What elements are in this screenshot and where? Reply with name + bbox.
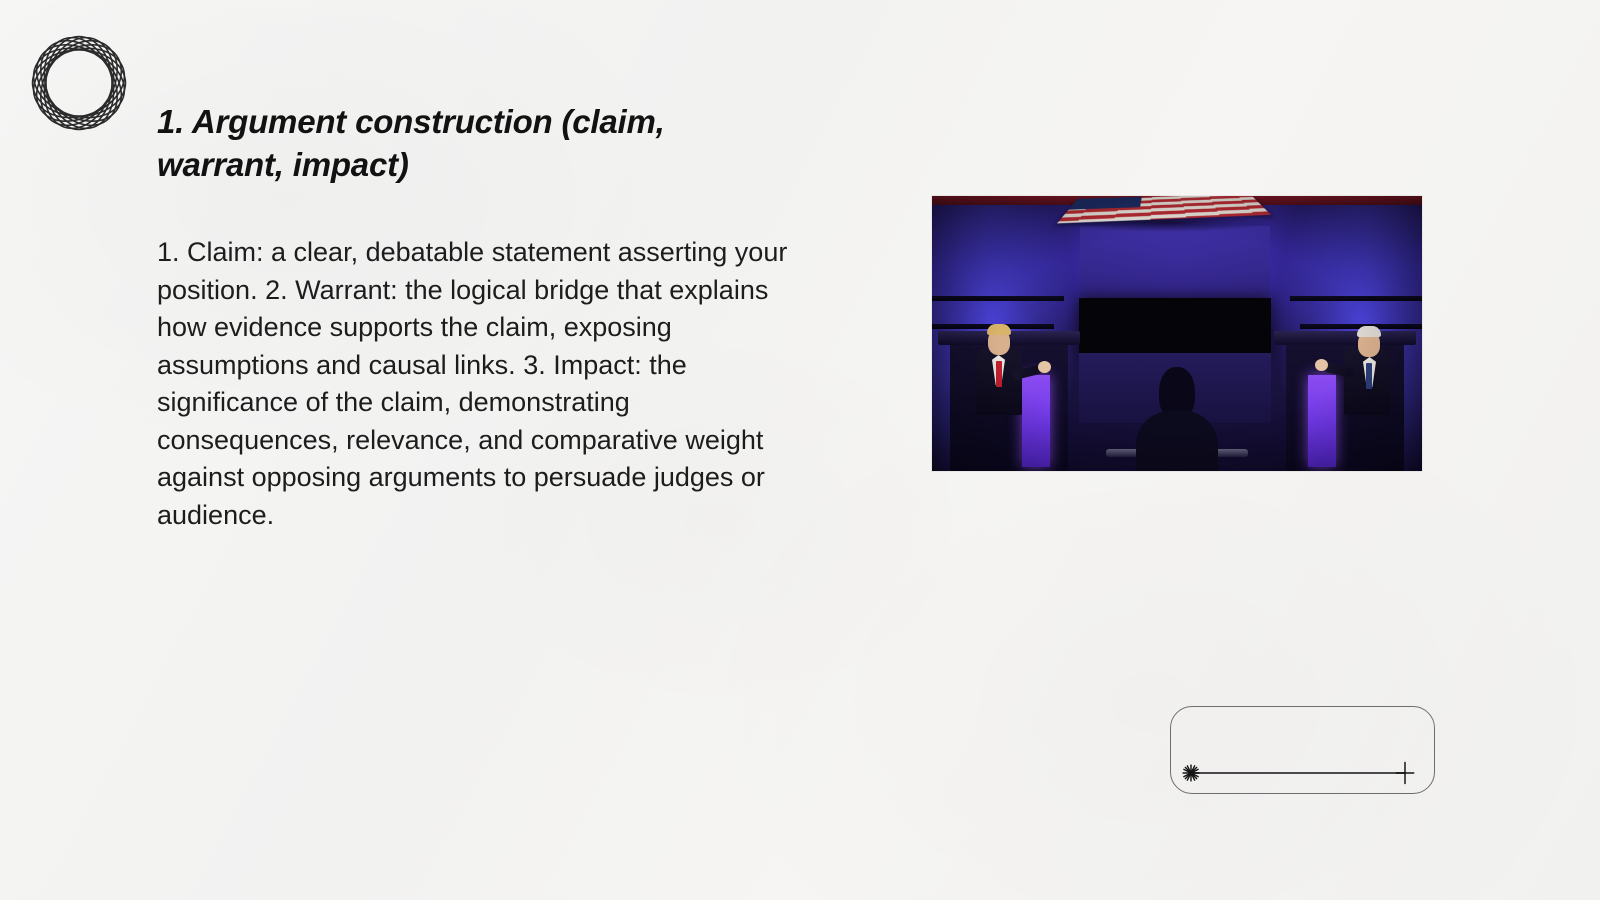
slide-text-column: 1. Argument construction (claim, warrant… [157,100,817,534]
flag-canton [1068,197,1141,210]
seated-moderator-silhouette [1134,367,1220,471]
body-paragraph: 1. Claim: a clear, debatable statement a… [157,234,805,534]
left-candidate-tie [996,361,1002,387]
stage-rail-right-upper [1290,296,1422,301]
left-candidate-hair [987,324,1011,335]
page-title: 1. Argument construction (claim, warrant… [157,100,747,186]
stage-rail-left-upper [932,296,1064,301]
right-candidate-hand [1315,359,1328,371]
left-podium-light-panel [1022,375,1050,467]
right-podium-light-panel [1308,375,1336,467]
black-backdrop-screen [1079,298,1271,353]
slider-card[interactable] [1170,706,1435,794]
right-candidate-hair [1357,326,1381,337]
starburst-icon[interactable] [1181,763,1201,783]
right-podium-desk [1274,331,1416,345]
spirograph-rosette-logo [4,8,154,158]
moderator-body [1136,411,1218,471]
presidential-debate-stage-photo [932,196,1422,471]
slider-track[interactable] [1189,772,1406,774]
plus-cross-icon[interactable] [1394,761,1416,785]
left-candidate-hand [1038,361,1051,373]
right-candidate-tie [1366,363,1372,389]
